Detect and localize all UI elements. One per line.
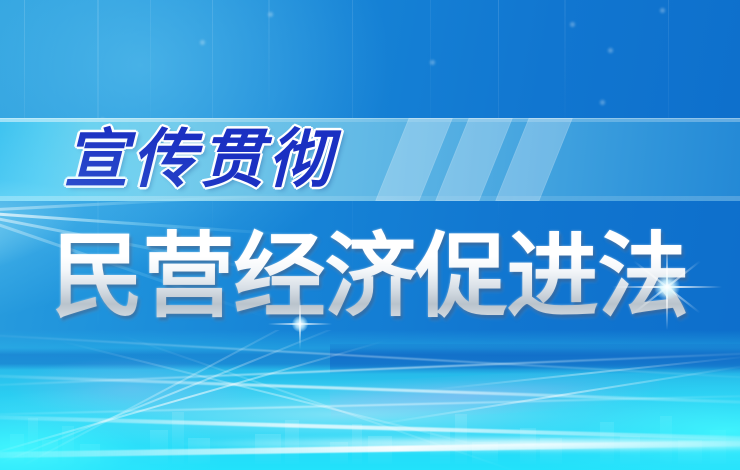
cyan-glow-right	[500, 376, 740, 470]
banner-subtitle: 宣传贯彻	[64, 118, 336, 201]
page-title-text: 民营经济促进法	[51, 226, 688, 326]
poster-canvas: 宣传贯彻 民营经济促进法	[0, 0, 740, 470]
page-title: 民营经济促进法	[0, 226, 740, 326]
bottom-highlight	[180, 436, 740, 452]
lower-wave-area	[0, 330, 740, 470]
